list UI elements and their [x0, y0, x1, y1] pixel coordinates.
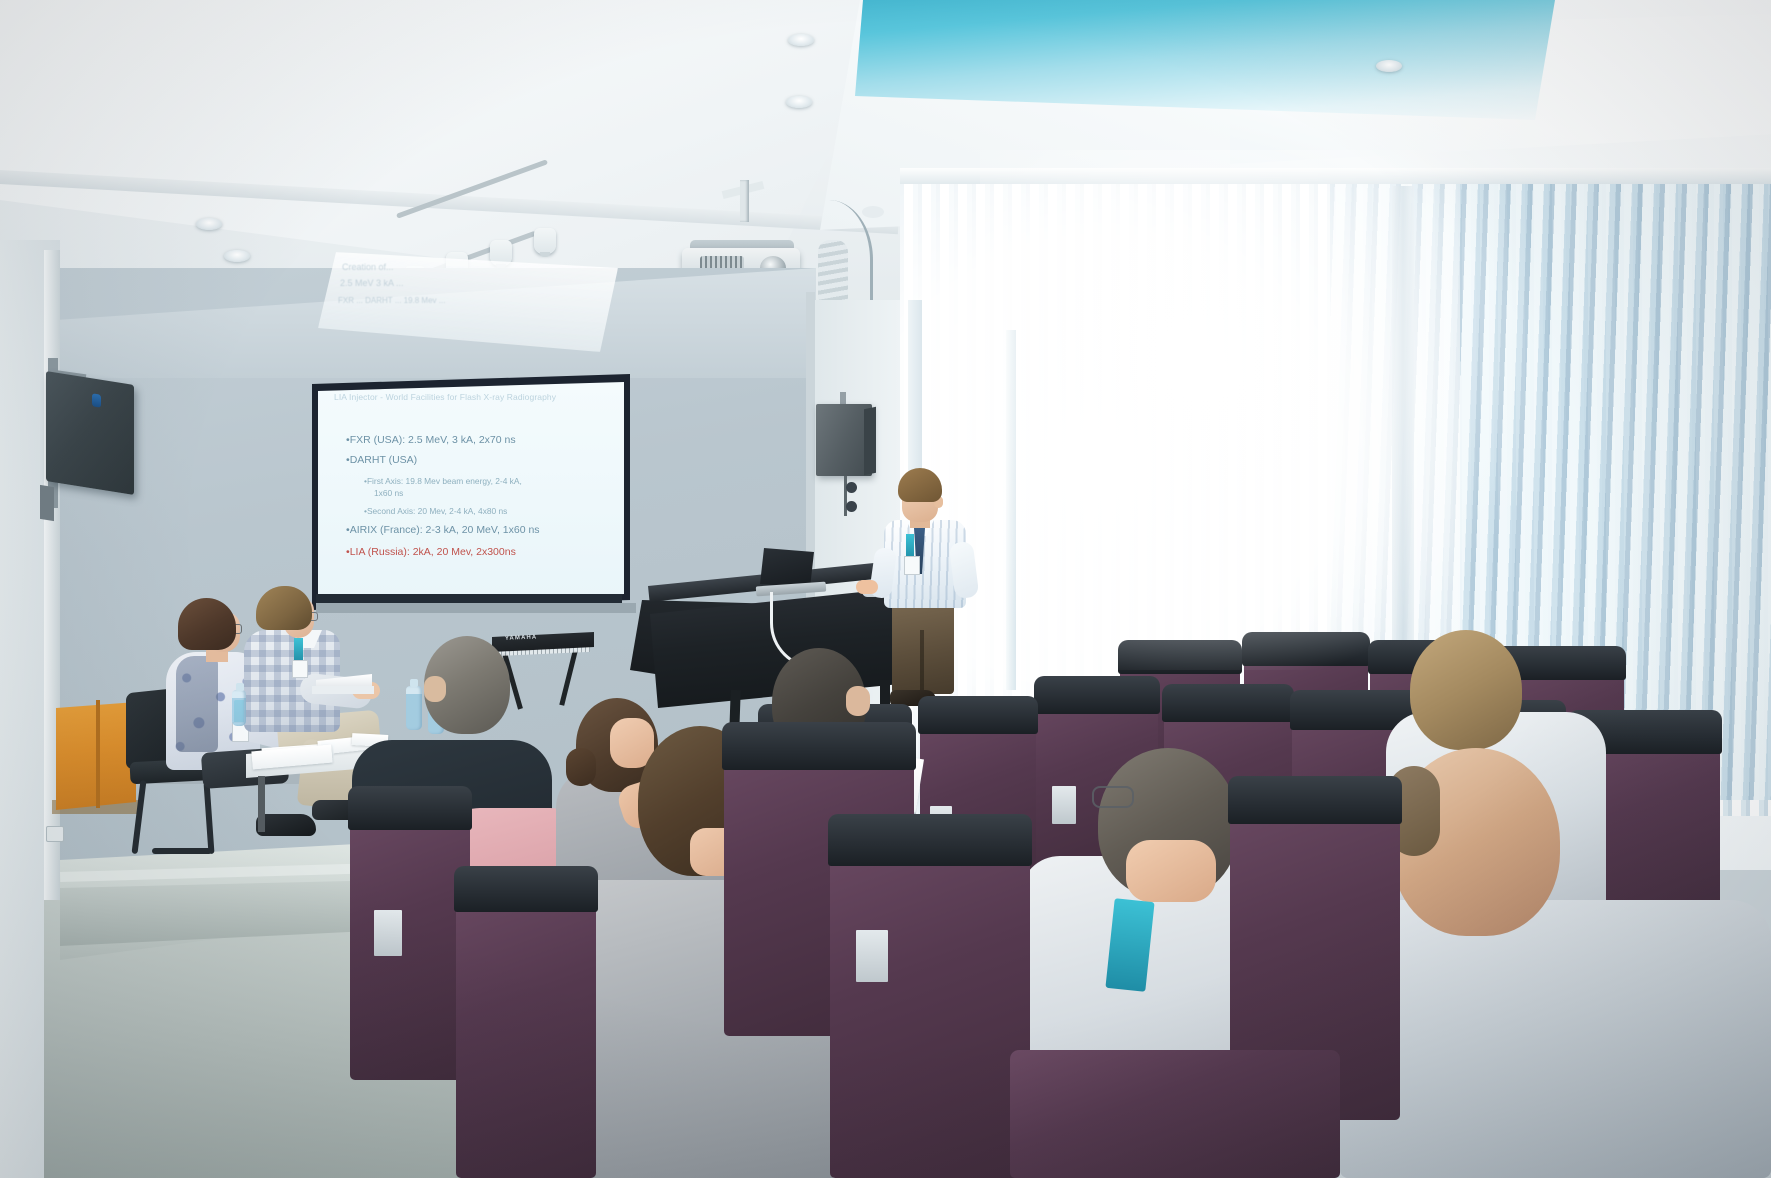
- blinds-rail: [900, 168, 1771, 184]
- slide-sub-bullet-1-cont: 1x60 ns: [374, 488, 403, 498]
- seat-headrest: [454, 866, 598, 912]
- chairperson2-shoe: [256, 814, 316, 836]
- wall-socket-icon: [46, 826, 64, 842]
- ceiling-cable-mount: [862, 206, 884, 218]
- downlight-icon: [196, 218, 222, 230]
- book-stack-lower: [312, 686, 374, 694]
- slide-bullet-1: FXR (USA): 2.5 MeV, 3 kA, 2x70 ns: [346, 434, 516, 446]
- slide-sub-bullet-2: Second Axis: 20 Mev, 2-4 kA, 4x80 ns: [364, 506, 507, 516]
- seat-headrest: [1118, 640, 1242, 674]
- slide-bullet-3: AIRIX (France): 2-3 kA, 20 MeV, 1x60 ns: [346, 524, 540, 536]
- slide-title: LIA Injector - World Facilities for Flas…: [334, 392, 606, 403]
- conference-room-photo: Creation of... 2.5 MeV 3 kA ... FXR ... …: [0, 0, 1771, 1178]
- seat-headrest: [1228, 776, 1402, 824]
- attendee-ear: [424, 676, 446, 702]
- speaker-lower-bracket: [40, 485, 54, 521]
- projector-stem: [740, 180, 749, 222]
- attendee-bottom-right-body: [1340, 900, 1771, 1178]
- reflection-line-2: 2.5 MeV 3 kA ...: [340, 278, 404, 288]
- seat[interactable]: [830, 830, 1030, 1178]
- presenter-hand: [856, 580, 878, 594]
- reflection-line-1: Creation of...: [342, 262, 394, 272]
- chairperson1-hair: [178, 598, 236, 650]
- attendee-face: [1126, 840, 1216, 902]
- chair-foot-rail: [152, 848, 212, 854]
- glasses-icon: [1092, 786, 1134, 808]
- seat-number-plate: [856, 930, 888, 982]
- seat-headrest: [1242, 632, 1370, 666]
- seat-headrest: [348, 786, 472, 830]
- presenter-badge: [904, 556, 920, 575]
- downlight-icon: [224, 250, 250, 262]
- downlight-icon: [788, 34, 814, 46]
- wall-speaker-left: [46, 371, 134, 495]
- chairperson1-vest: [176, 656, 218, 752]
- seat-number-plate: [1052, 786, 1076, 824]
- seat-headrest: [722, 722, 916, 770]
- attendee-hair-bun: [566, 748, 596, 786]
- seat[interactable]: [350, 800, 470, 1080]
- screen-bottom-bar: [316, 594, 622, 603]
- seat-headrest: [918, 696, 1038, 734]
- seat-headrest: [1162, 684, 1294, 722]
- seat-headrest: [1034, 676, 1160, 714]
- presenter-leg-split: [920, 630, 924, 696]
- slide-sub-bullet-1: First Axis: 19.8 Mev beam energy, 2-4 kA…: [364, 476, 522, 486]
- speaker-side-panel: [864, 407, 876, 476]
- chairperson2-hair: [256, 586, 312, 630]
- slide-content: LIA Injector - World Facilities for Flas…: [332, 392, 624, 588]
- wall-strip-under-screen: [316, 603, 636, 613]
- window-mullion: [1006, 330, 1016, 690]
- downlight-icon: [1376, 60, 1402, 72]
- speaker-led-icon: [92, 393, 101, 407]
- speaker-knob-icon: [846, 501, 857, 512]
- spotlight-icon: [534, 228, 556, 254]
- yamaha-logo: YAMAHA: [505, 634, 545, 645]
- slide-bullet-2: DARHT (USA): [346, 454, 417, 466]
- downlight-icon: [786, 96, 812, 108]
- seat[interactable]: [1010, 1050, 1340, 1178]
- chairperson2-badge: [292, 660, 308, 678]
- seat-number-plate: [374, 910, 402, 956]
- attendee-far-right-head: [1410, 630, 1522, 750]
- slide-bullet-4-highlight: LIA (Russia): 2kA, 20 Mev, 2x300ns: [346, 546, 516, 558]
- table-leg: [258, 776, 265, 832]
- cabinet-divider: [96, 700, 100, 808]
- speaker-knob-icon: [846, 482, 857, 493]
- water-bottle: [232, 690, 246, 726]
- seat-headrest: [828, 814, 1032, 866]
- reflection-line-3: FXR ... DARHT ... 19.8 Mev ...: [338, 296, 445, 305]
- speaker-controls: [846, 482, 860, 522]
- seat[interactable]: [456, 880, 596, 1178]
- attendee-ear: [846, 686, 870, 716]
- water-bottle: [406, 686, 422, 730]
